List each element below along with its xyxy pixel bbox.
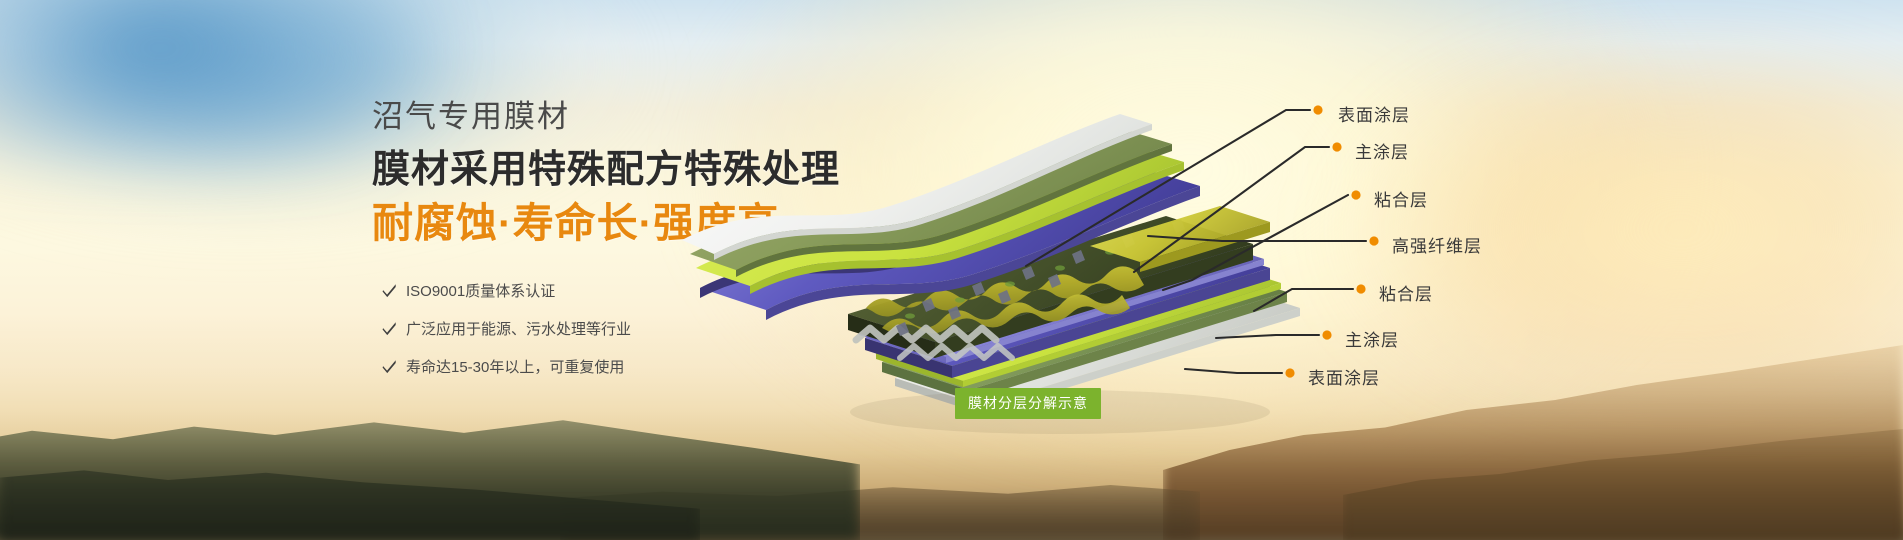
diagram-caption-badge: 膜材分层分解示意	[955, 388, 1101, 419]
feature-label: ISO9001质量体系认证	[406, 280, 555, 301]
check-icon	[382, 359, 397, 374]
check-icon	[382, 283, 397, 298]
callout-label-main-coating-bottom: 主涂层	[1345, 326, 1399, 351]
callout-label-surface-coating-top: 表面涂层	[1338, 101, 1410, 126]
callout-label-main-coating-top: 主涂层	[1355, 138, 1409, 163]
feature-label: 寿命达15-30年以上，可重复使用	[406, 356, 624, 377]
callout-label-adhesive-bottom: 粘合层	[1379, 280, 1433, 305]
feature-label: 广泛应用于能源、污水处理等行业	[406, 318, 631, 339]
check-icon	[382, 321, 397, 336]
callout-label-adhesive-top: 粘合层	[1374, 186, 1428, 211]
hero-banner: 沼气专用膜材 膜材采用特殊配方特殊处理 耐腐蚀·寿命长·强度高 ISO9001质…	[0, 0, 1903, 540]
callout-label-surface-coating-bottom: 表面涂层	[1308, 364, 1380, 389]
callout-label-fiber-layer: 高强纤维层	[1392, 232, 1482, 257]
